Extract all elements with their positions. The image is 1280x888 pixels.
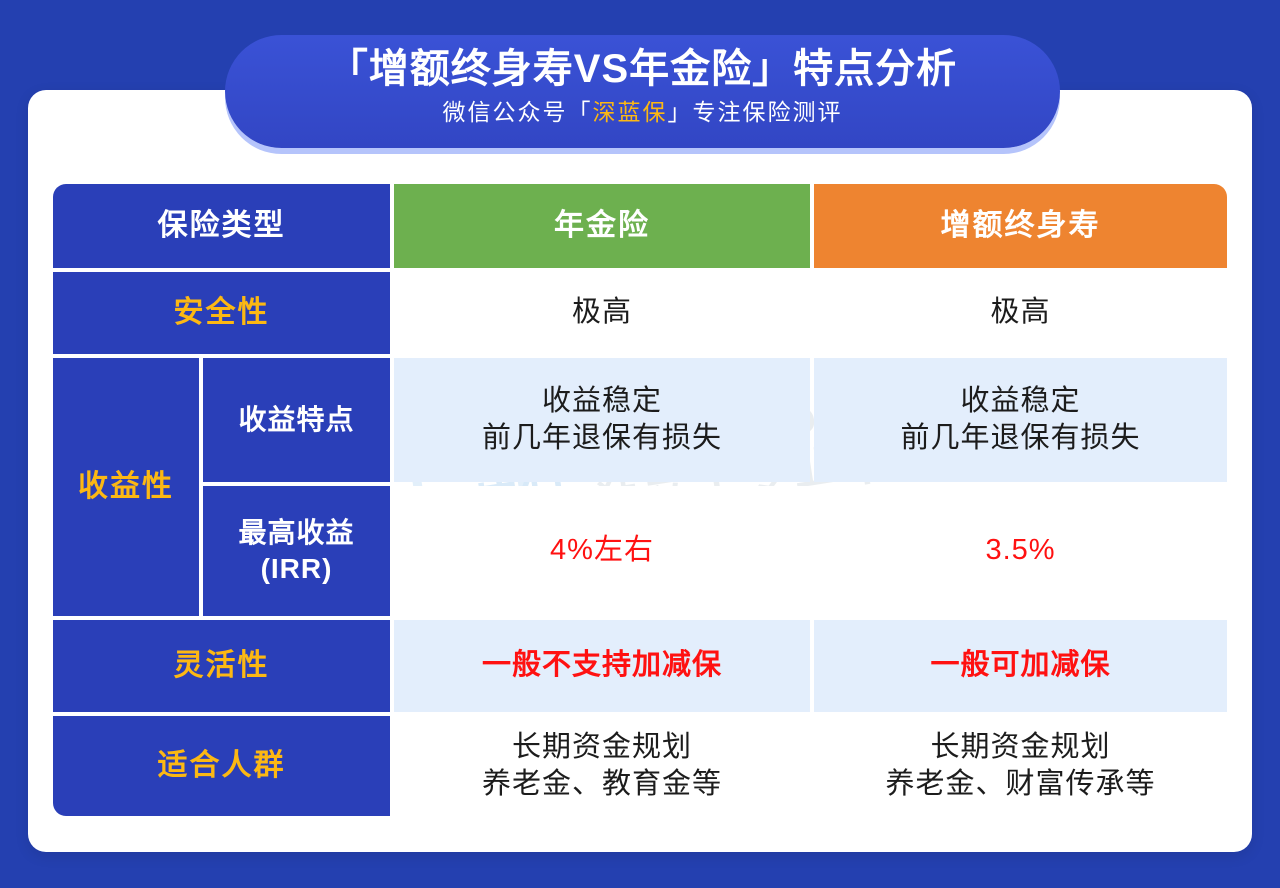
cell-value: 一般可加减保 [930,647,1110,684]
row-sublabel-line1: 最高收益 [238,515,354,551]
row-label-flexibility: 灵活性 [53,620,390,712]
cell-safety-annuity: 极高 [394,272,810,354]
cell-value-line2: 前几年退保有损失 [900,420,1140,457]
row-sublabel-return-features: 收益特点 [203,358,390,482]
cell-flexibility-wholelife: 一般可加减保 [814,620,1227,712]
column-header-label: 保险类型 [158,207,286,245]
page-title: 「增额终身寿VS年金险」特点分析 [225,43,1060,95]
subtitle-suffix: 」专注保险测评 [668,99,843,125]
cell-max-irr-wholelife: 3.5% [814,486,1227,616]
table-header-wholelife: 增额终身寿 [814,184,1227,268]
column-header-label: 增额终身寿 [941,207,1101,245]
page-subtitle: 微信公众号「深蓝保」专注保险测评 [225,95,1060,129]
cell-value-line2: 养老金、教育金等 [482,766,722,803]
comparison-table: 保险类型 年金险 增额终身寿 安全性 极高 极高 收益性 收益特点 收益稳定 前… [53,184,1227,816]
column-header-label: 年金险 [554,207,650,245]
subtitle-prefix: 微信公众号「 [443,99,593,125]
cell-target-audience-wholelife: 长期资金规划 养老金、财富传承等 [814,716,1227,816]
cell-value: 一般不支持加减保 [482,647,722,684]
row-sublabel-text: 收益特点 [238,402,354,438]
row-sublabel-line2: (IRR) [261,551,333,587]
cell-value-line2: 养老金、财富传承等 [885,766,1155,803]
cell-value-line1: 收益稳定 [960,383,1080,420]
row-sublabel-max-irr: 最高收益 (IRR) [203,486,390,616]
cell-return-features-annuity: 收益稳定 前几年退保有损失 [394,358,810,482]
cell-value: 4%左右 [550,532,654,569]
row-label-text: 适合人群 [158,747,286,785]
row-label-target-audience: 适合人群 [53,716,390,816]
row-group-label-returns: 收益性 [53,358,199,616]
cell-value-line1: 长期资金规划 [930,729,1110,766]
cell-value-line1: 长期资金规划 [512,729,692,766]
cell-return-features-wholelife: 收益稳定 前几年退保有损失 [814,358,1227,482]
table-header-category: 保险类型 [53,184,390,268]
row-label-text: 灵活性 [174,647,270,685]
cell-value: 3.5% [985,532,1055,569]
row-label-text: 收益性 [78,468,174,506]
header-banner: 「增额终身寿VS年金险」特点分析 微信公众号「深蓝保」专注保险测评 [225,35,1060,148]
cell-value-line1: 收益稳定 [542,383,662,420]
cell-value: 极高 [990,294,1050,331]
cell-value: 极高 [572,294,632,331]
cell-target-audience-annuity: 长期资金规划 养老金、教育金等 [394,716,810,816]
cell-value-line2: 前几年退保有损失 [482,420,722,457]
table-header-annuity: 年金险 [394,184,810,268]
row-label-safety: 安全性 [53,272,390,354]
subtitle-brand: 深蓝保 [593,99,668,125]
row-label-text: 安全性 [174,294,270,332]
cell-safety-wholelife: 极高 [814,272,1227,354]
cell-max-irr-annuity: 4%左右 [394,486,810,616]
cell-flexibility-annuity: 一般不支持加减保 [394,620,810,712]
